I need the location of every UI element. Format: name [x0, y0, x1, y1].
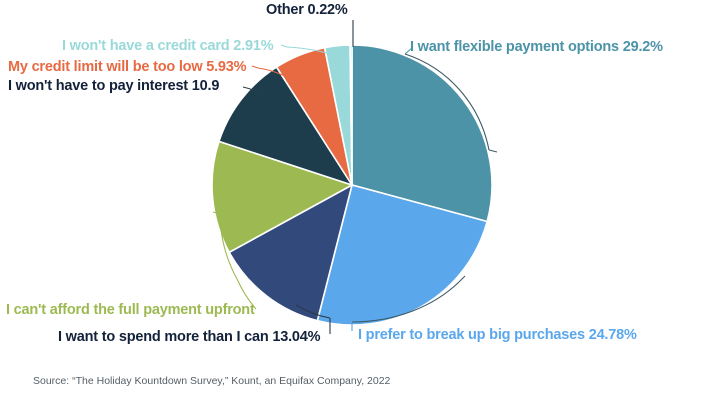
slice-label-other: Other 0.22%	[266, 3, 348, 18]
slice-label-no-credit-card: I won't have a credit card 2.91%	[62, 39, 273, 54]
slice-label-no-interest: I won't have to pay interest 10.9	[8, 79, 260, 94]
pie-chart-figure: I want flexible payment options 29.2% I …	[0, 0, 705, 402]
slice-label-break-up-purchases: I prefer to break up big purchases 24.78…	[358, 328, 637, 343]
source-note: Source: “The Holiday Kountdown Survey,” …	[33, 375, 390, 387]
slice-label-spend-more: I want to spend more than I can 13.04%	[58, 330, 320, 345]
slice-label-flexible-payment: I want flexible payment options 29.2%	[410, 40, 663, 55]
slice-label-credit-limit-too-low: My credit limit will be too low 5.93%	[8, 60, 246, 75]
slice-label-cant-afford-upfront: I can't afford the full payment upfront	[6, 303, 264, 318]
